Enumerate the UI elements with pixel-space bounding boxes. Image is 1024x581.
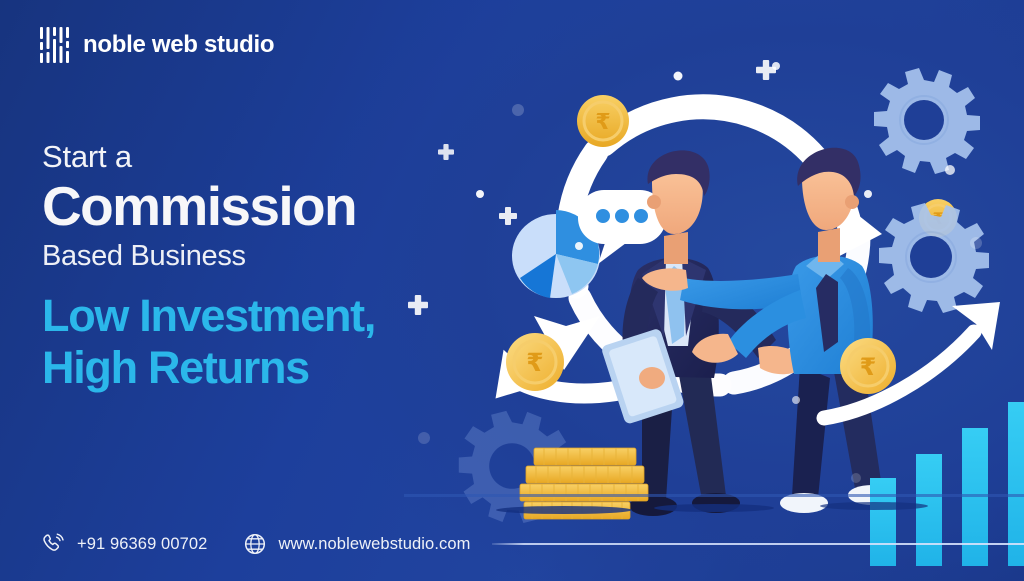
speech-bubble [578, 190, 666, 264]
rupee-coin-small: ₹ [919, 199, 957, 237]
rupee-coin-right: ₹ [840, 338, 896, 394]
headline-block: Start a Commission Based Business Low In… [42, 140, 512, 395]
handshake-businessman-shirt [642, 148, 896, 513]
headline-accent-1: Low Investment, [42, 290, 512, 343]
brand-name: noble web studio [83, 33, 274, 57]
headline-kicker: Start a [42, 140, 512, 173]
svg-text:₹: ₹ [860, 353, 877, 381]
phone-number: +91 96369 00702 [77, 535, 207, 554]
website-url: www.noblewebstudio.com [278, 535, 470, 554]
phone-contact[interactable]: +91 96369 00702 [42, 532, 207, 556]
promo-banner: ₹ ₹ ₹ ₹ [0, 0, 1024, 581]
growth-arrow [824, 302, 1000, 418]
brand-logo[interactable]: noble web studio [40, 27, 274, 63]
phone-ringing-icon [42, 532, 66, 556]
contact-footer: +91 96369 00702 www.noblewebstudio.com [42, 527, 1024, 561]
headline-accent-2: High Returns [42, 342, 512, 395]
headline-subtitle: Based Business [42, 241, 512, 273]
headline-title: Commission [42, 177, 512, 235]
svg-text:₹: ₹ [932, 209, 943, 228]
globe-icon [243, 532, 267, 556]
vertical-dash-grid-logo-icon [40, 27, 70, 63]
gear-large-bottom [879, 203, 989, 313]
svg-text:₹: ₹ [526, 348, 543, 377]
ground-line [404, 494, 1024, 514]
rupee-coin-left: ₹ [506, 333, 564, 391]
coin-stack [520, 448, 648, 519]
gear-large-top [874, 68, 980, 174]
cycle-arrow-circle [534, 69, 882, 385]
growth-arrow-inner [486, 343, 704, 398]
handshake-businessman-suit [601, 150, 808, 516]
footer-divider [492, 543, 1024, 545]
gear-faded-left [459, 411, 571, 523]
rupee-coin-top: ₹ [577, 95, 629, 147]
svg-text:₹: ₹ [595, 110, 610, 135]
website-contact[interactable]: www.noblewebstudio.com [243, 532, 470, 556]
pie-chart [512, 210, 600, 298]
